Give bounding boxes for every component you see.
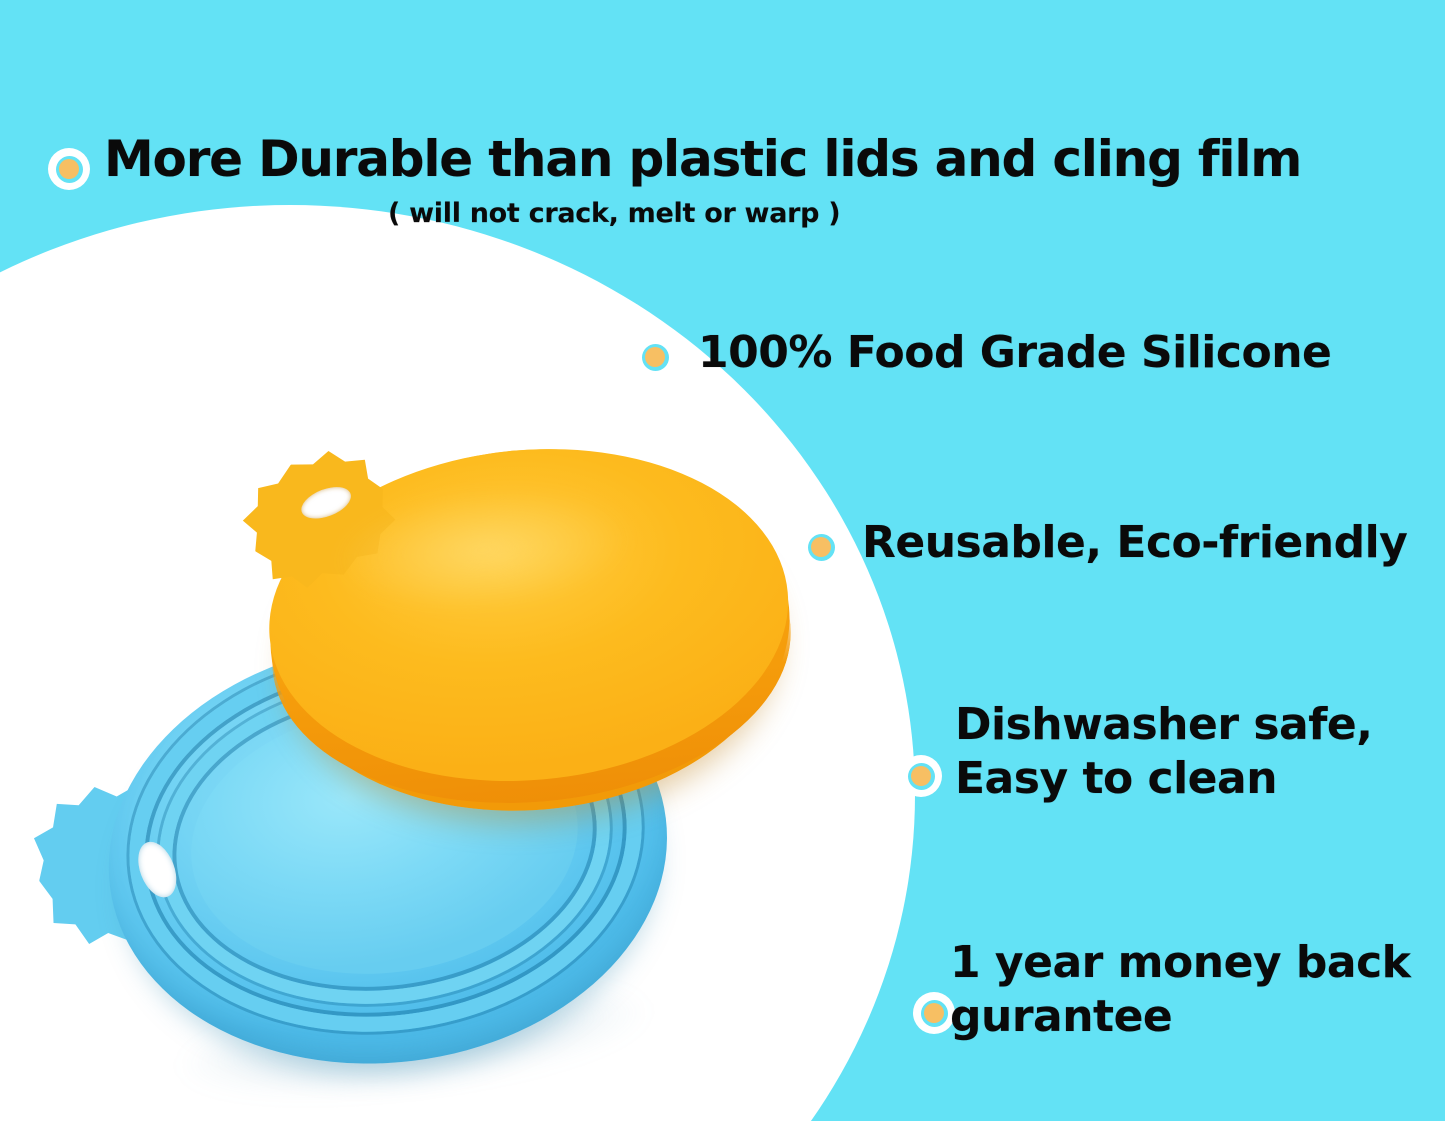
feature-text-food-grade: 100% Food Grade Silicone xyxy=(698,326,1331,380)
ring-bullet-icon-headline xyxy=(48,148,90,190)
ring-bullet-icon-reusable xyxy=(800,526,842,568)
orange-silicone-can-lid xyxy=(214,405,847,856)
feature-text-reusable: Reusable, Eco-friendly xyxy=(862,516,1407,570)
ring-bullet-icon-guarantee xyxy=(913,992,955,1034)
ring-bullet-icon-food-grade xyxy=(634,336,676,378)
feature-text-guarantee: 1 year money back gurantee xyxy=(950,936,1410,1043)
feature-text-dishwasher: Dishwasher safe, Easy to clean xyxy=(955,698,1372,805)
product-feature-graphic: More Durable than plastic lids and cling… xyxy=(0,0,1445,1121)
headline-text: More Durable than plastic lids and cling… xyxy=(104,129,1301,190)
headline-subtext: ( will not crack, melt or warp ) xyxy=(388,198,840,231)
ring-bullet-icon-dishwasher xyxy=(900,755,942,797)
silicone-can-lids-photo xyxy=(0,380,900,1121)
